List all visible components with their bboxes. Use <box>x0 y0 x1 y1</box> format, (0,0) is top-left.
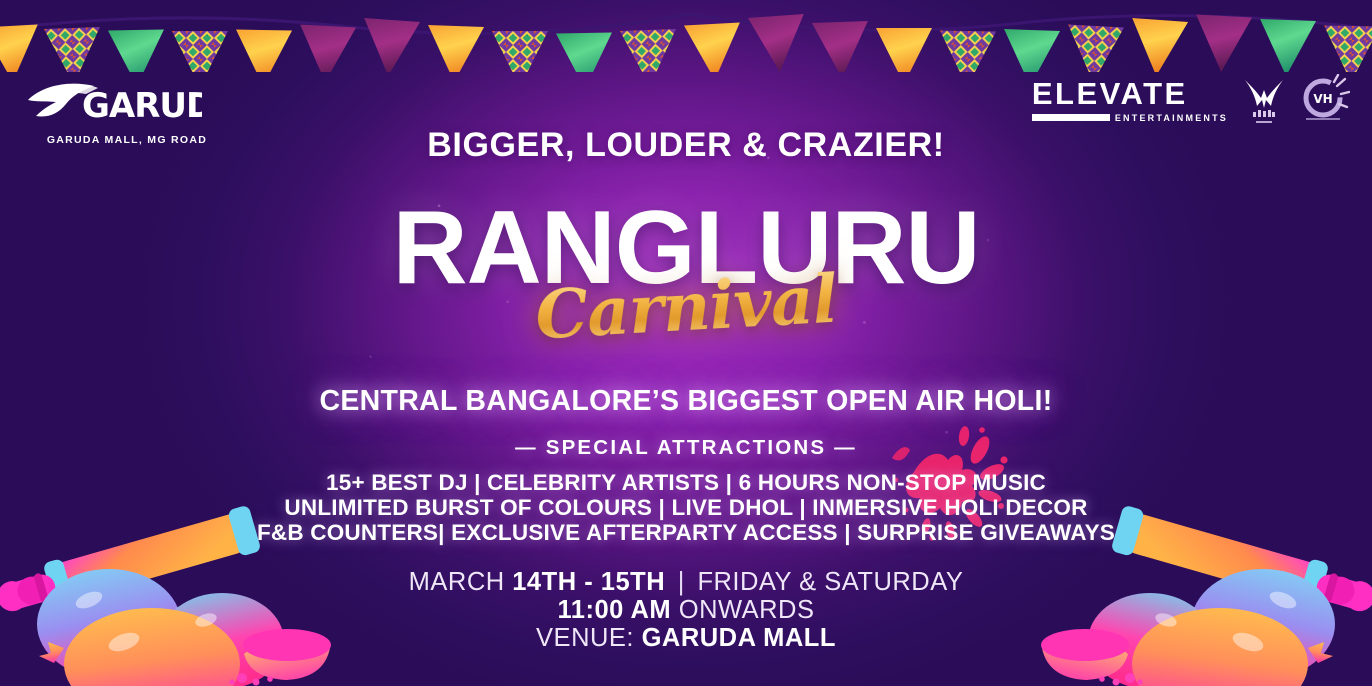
vh-partner-logo-icon: VH <box>1300 74 1350 126</box>
partner-logos: ELEVATE ENTERTAINMENTS VH <box>1032 74 1350 126</box>
wings-partner-logo-icon <box>1241 74 1287 126</box>
date-range: 14TH - 15TH <box>512 568 665 596</box>
elevate-logo-bar <box>1032 114 1110 121</box>
event-poster: GARUDA GARUDA MALL, MG ROAD ELEVATE ENTE… <box>0 0 1372 686</box>
venue-label: VENUE: <box>536 624 634 652</box>
poster-subtitle: CENTRAL BANGALORE’S BIGGEST OPEN AIR HOL… <box>0 385 1372 418</box>
svg-text:GARUDA: GARUDA <box>82 86 202 126</box>
holi-decoration-left <box>0 496 344 686</box>
elevate-entertainments-logo: ELEVATE ENTERTAINMENTS <box>1032 78 1228 123</box>
bunting-decoration <box>0 0 1372 72</box>
holi-decoration-right <box>1028 496 1372 686</box>
date-prefix: MARCH <box>409 568 505 596</box>
attractions-line: 15+ BEST DJ | CELEBRITY ARTISTS | 6 HOUR… <box>0 470 1372 495</box>
garuda-bird-icon: GARUDA <box>22 72 202 130</box>
event-days: FRIDAY & SATURDAY <box>697 568 963 596</box>
date-separator: | <box>673 568 690 596</box>
venue-name: GARUDA MALL <box>642 624 836 652</box>
elevate-logo-name: ELEVATE <box>1032 78 1228 109</box>
special-attractions-heading: — SPECIAL ATTRACTIONS — <box>0 436 1372 460</box>
event-time: 11:00 AM <box>558 596 672 624</box>
event-time-suffix: ONWARDS <box>679 596 815 624</box>
vh-badge-text: VH <box>1313 92 1332 106</box>
poster-title-block: RANGLURU Carnival <box>0 196 1372 356</box>
elevate-logo-subtitle: ENTERTAINMENTS <box>1115 113 1228 123</box>
poster-tagline: BIGGER, LOUDER & CRAZIER! <box>0 126 1372 165</box>
